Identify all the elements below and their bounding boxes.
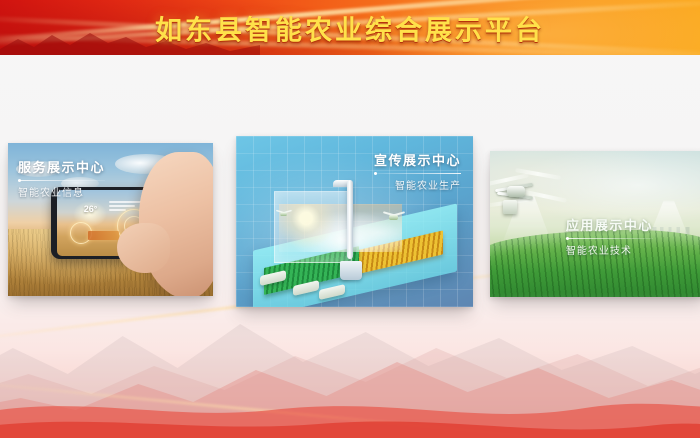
light-pole [347, 180, 353, 259]
card-application-caption: 应用展示中心 智能农业技术 [566, 215, 653, 257]
phone-temperature-readout: 26° [84, 204, 98, 214]
header-banner: 如东县智能农业综合展示平台 [0, 0, 700, 55]
phone-data-ticker [88, 231, 119, 240]
card-application-subtitle: 智能农业技术 [566, 242, 653, 257]
card-promotion-image: 宣传展示中心 智能农业生产 [236, 136, 473, 307]
card-application-title: 应用展示中心 [566, 215, 653, 234]
caption-divider [566, 238, 653, 239]
caption-divider [18, 180, 105, 181]
page-title: 如东县智能农业综合展示平台 [0, 8, 700, 47]
poster-stage: 如东县智能农业综合展示平台 26° 服务展 [0, 0, 700, 438]
card-service-caption: 服务展示中心 智能农业信息 [18, 157, 105, 199]
water-bucket [340, 261, 361, 280]
card-service-title: 服务展示中心 [18, 157, 105, 176]
card-service-display-center[interactable]: 26° 服务展示中心 智能农业信息 [8, 143, 213, 296]
card-promotion-title: 宣传展示中心 [374, 150, 461, 169]
card-application-display-center[interactable]: 应用展示中心 智能农业技术 [490, 151, 700, 297]
caption-divider [374, 173, 461, 174]
card-promotion-caption: 宣传展示中心 智能农业生产 [374, 150, 461, 192]
card-application-image: 应用展示中心 智能农业技术 [490, 151, 700, 297]
card-service-subtitle: 智能农业信息 [18, 184, 105, 199]
glass-wall-panel [274, 191, 352, 263]
card-promotion-display-center[interactable]: 宣传展示中心 智能农业生产 [236, 136, 473, 307]
card-service-image: 26° 服务展示中心 智能农业信息 [8, 143, 213, 296]
background-foreground-ridge [0, 360, 700, 438]
card-promotion-subtitle: 智能农业生产 [374, 177, 461, 192]
